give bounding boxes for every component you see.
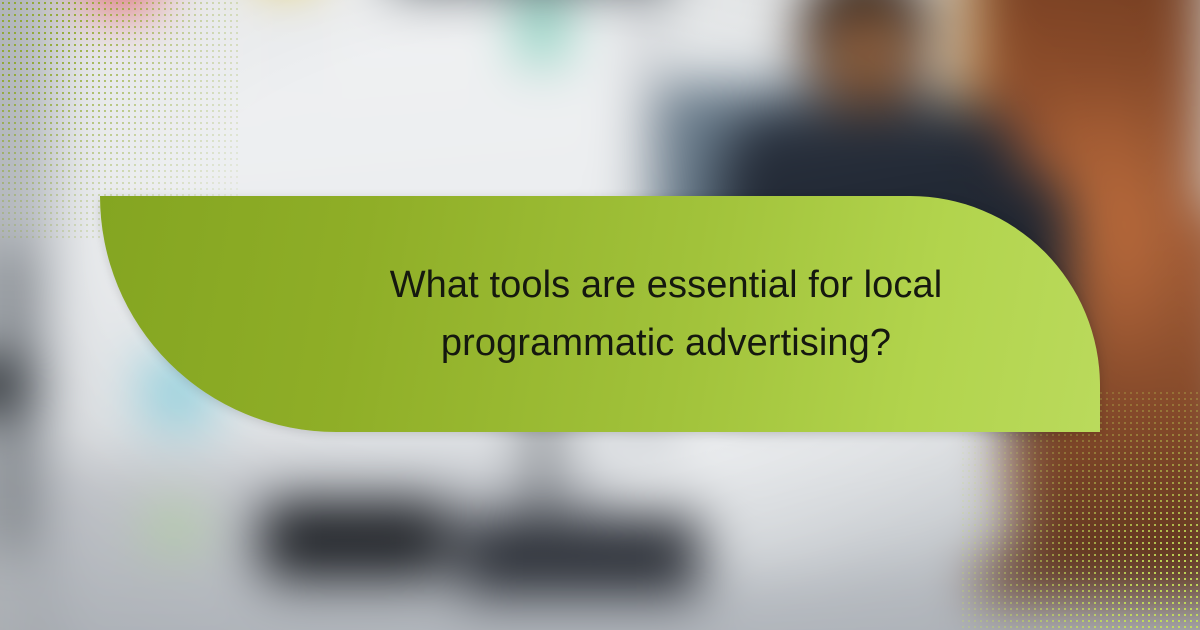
- question-text: What tools are essential for local progr…: [356, 256, 976, 372]
- share-card-canvas: What tools are essential for local progr…: [0, 0, 1200, 630]
- question-line-1: What tools are essential for local: [356, 256, 976, 314]
- question-line-2: programmatic advertising?: [356, 314, 976, 372]
- question-banner: What tools are essential for local progr…: [100, 196, 1100, 432]
